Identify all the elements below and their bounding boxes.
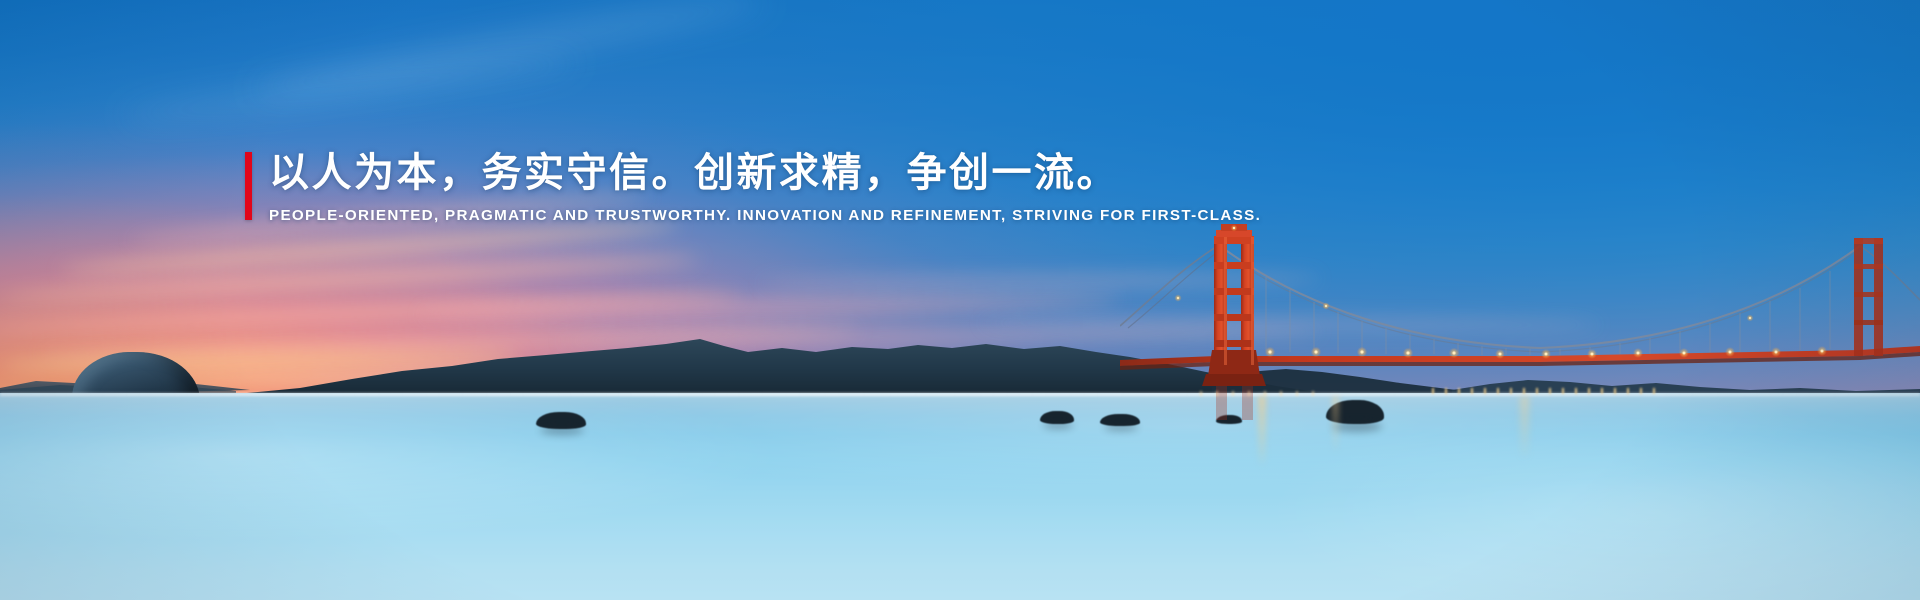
banner-text-group: 以人为本，务实守信。创新求精，争创一流。 PEOPLE-ORIENTED, PR… bbox=[269, 148, 1261, 224]
red-accent-bar bbox=[245, 152, 252, 220]
shoreline-lights bbox=[1432, 388, 1662, 394]
hero-banner: 以人为本，务实守信。创新求精，争创一流。 PEOPLE-ORIENTED, PR… bbox=[0, 0, 1920, 600]
banner-subheadline: PEOPLE-ORIENTED, PRAGMATIC AND TRUSTWORT… bbox=[269, 207, 1261, 224]
bridge-light-reflection bbox=[1520, 396, 1529, 460]
bridge-lights bbox=[1174, 225, 1827, 359]
banner-headline: 以人为本，务实守信。创新求精，争创一流。 bbox=[269, 148, 1261, 198]
water-rock-reflection bbox=[540, 426, 584, 435]
bridge-light-reflection bbox=[1332, 396, 1339, 454]
bridge-light-reflection bbox=[1258, 396, 1266, 468]
banner-copy-block: 以人为本，务实守信。创新求精，争创一流。 PEOPLE-ORIENTED, PR… bbox=[245, 148, 1545, 224]
water-rock-reflection bbox=[1043, 422, 1073, 429]
